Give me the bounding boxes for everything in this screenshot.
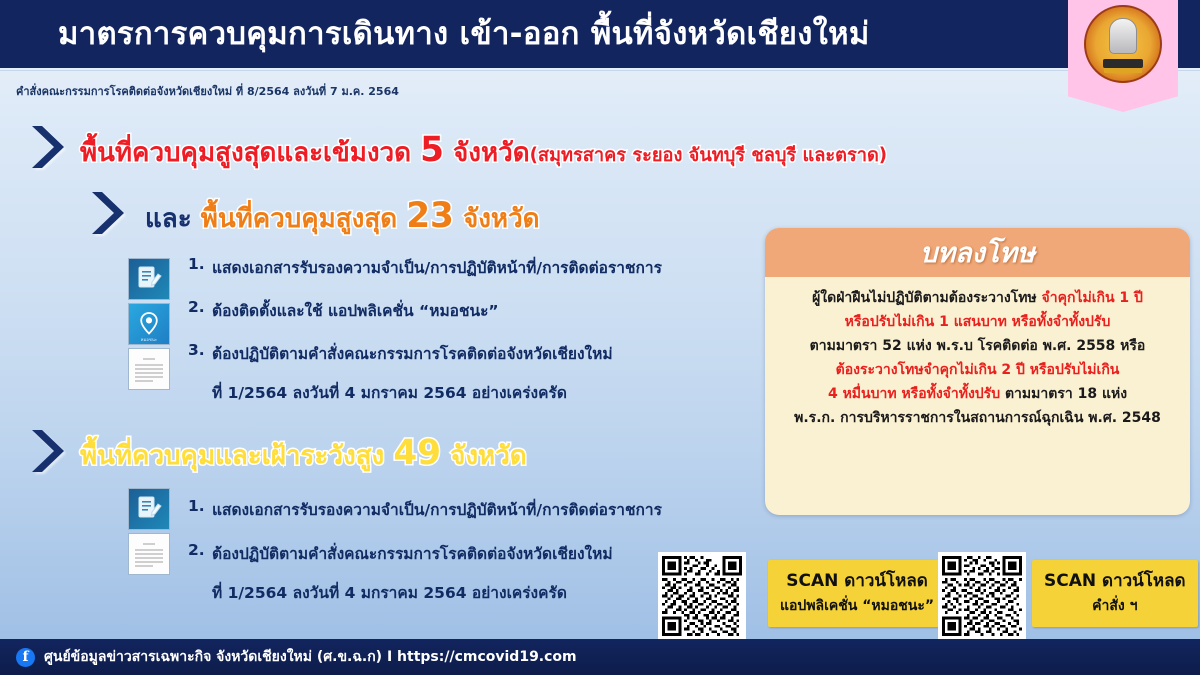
list-item-number: 2. [188, 298, 212, 316]
emblem-inner [1098, 16, 1148, 72]
zone-5-provinces: (สมุทรสาคร ระยอง จันทบุรี ชลบุรี และตราด… [530, 145, 887, 166]
list-item-number: 2. [188, 541, 212, 559]
requirement-icons-group-b [128, 488, 172, 578]
zone-49-count: 49 [393, 433, 441, 473]
footer-bar: f ศูนย์ข้อมูลข่าวสารเฉพาะกิจ จังหวัดเชีย… [0, 639, 1200, 675]
app-icon-label: หมอชนะ [129, 336, 169, 343]
zone-23-label: พื้นที่ควบคุมสูงสุด [201, 204, 397, 234]
list-item-text: ต้องติดตั้งและใช้ แอปพลิเคชั่น “หมอชนะ” [212, 298, 499, 323]
requirement-icons-group-a: หมอชนะ [128, 258, 172, 393]
zone-5-label: พื้นที่ควบคุมสูงสุดและเข้มงวด [80, 138, 411, 168]
requirements-list-b: 1. แสดงเอกสารรับรองความจำเป็น/การปฏิบัติ… [188, 497, 662, 605]
list-item: 3. ต้องปฏิบัติตามคำสั่งคณะกรรมการโรคติดต… [188, 341, 662, 366]
penalty-line: 4 หมื่นบาท หรือทั้งจำทั้งปรับ ตามมาตรา 1… [775, 382, 1180, 406]
zone-5-count: 5 [420, 130, 444, 170]
penalty-line: ตามมาตรา 52 แห่ง พ.ร.บ โรคติดต่อ พ.ศ. 25… [775, 334, 1180, 358]
header-divider [0, 70, 1200, 71]
zone-23-prefix: และ [145, 204, 192, 234]
list-item-continuation: ที่ 1/2564 ลงวันที่ 4 มกราคม 2564 อย่างเ… [212, 380, 662, 405]
footer-text: ศูนย์ข้อมูลข่าวสารเฉพาะกิจ จังหวัดเชียงใ… [44, 646, 577, 668]
list-item-text: ต้องปฏิบัติตามคำสั่งคณะกรรมการโรคติดต่อจ… [212, 341, 613, 366]
chevron-right-icon [88, 190, 126, 236]
list-item-number: 3. [188, 341, 212, 359]
official-order-document-icon [128, 533, 170, 575]
penalty-line: ต้องระวางโทษจำคุกไม่เกิน 2 ปี หรือปรับไม… [775, 358, 1180, 382]
penalty-panel-body: ผู้ใดฝ่าฝืนไม่ปฏิบัติตามต้องระวางโทษ จำค… [765, 277, 1190, 430]
penalty-title: บทลงโทษ [920, 231, 1035, 274]
penalty-text: พ.ร.ก. การบริหารราชการในสถานการณ์ฉุกเฉิน… [794, 410, 1161, 426]
chiang-mai-provincial-emblem [1084, 5, 1162, 83]
list-item: 1. แสดงเอกสารรับรองความจำเป็น/การปฏิบัติ… [188, 255, 662, 280]
list-item-text: แสดงเอกสารรับรองความจำเป็น/การปฏิบัติหน้… [212, 497, 662, 522]
zone-49-unit: จังหวัด [450, 441, 527, 471]
zone-23-count: 23 [406, 196, 454, 236]
scan-label-line2: แอปพลิเคชั่น “หมอชนะ” [780, 598, 934, 614]
location-pin-app-icon: หมอชนะ [128, 303, 170, 345]
scan-label-order: SCAN ดาวน์โหลด คำสั่ง ฯ [1032, 560, 1198, 627]
qr-code-order[interactable] [938, 552, 1026, 640]
penalty-text-highlight: ต้องระวางโทษจำคุกไม่เกิน 2 ปี หรือปรับไม… [836, 362, 1120, 378]
penalty-text: ตามมาตรา 18 แห่ง [1000, 386, 1127, 402]
list-item: 1. แสดงเอกสารรับรองความจำเป็น/การปฏิบัติ… [188, 497, 662, 522]
chevron-right-icon [28, 428, 66, 474]
zone-49-label: พื้นที่ควบคุมและเฝ้าระวังสูง [80, 441, 384, 471]
penalty-text-highlight: หรือปรับไม่เกิน 1 แสนบาท หรือทั้งจำทั้งป… [845, 314, 1111, 330]
list-item: 2. ต้องติดตั้งและใช้ แอปพลิเคชั่น “หมอชน… [188, 298, 662, 323]
zone-5-unit: จังหวัด [453, 138, 530, 168]
penalty-line: ผู้ใดฝ่าฝืนไม่ปฏิบัติตามต้องระวางโทษ จำค… [775, 286, 1180, 310]
penalty-panel-header: บทลงโทษ [765, 228, 1190, 277]
emblem-pedestal [1103, 59, 1143, 68]
penalty-line: หรือปรับไม่เกิน 1 แสนบาท หรือทั้งจำทั้งป… [775, 310, 1180, 334]
qr-code-morchana[interactable] [658, 552, 746, 640]
facebook-icon[interactable]: f [16, 648, 35, 667]
order-reference-subtitle: คำสั่งคณะกรรมการโรคติดต่อจังหวัดเชียงใหม… [16, 82, 399, 100]
penalty-text: ตามมาตรา 52 แห่ง พ.ร.บ โรคติดต่อ พ.ศ. 25… [810, 338, 1146, 354]
zone-49-headline: พื้นที่ควบคุมและเฝ้าระวังสูง 49 จังหวัด [80, 433, 527, 476]
list-item-continuation: ที่ 1/2564 ลงวันที่ 4 มกราคม 2564 อย่างเ… [212, 580, 662, 605]
infographic-poster: มาตรการควบคุมการเดินทาง เข้า-ออก พื้นที่… [0, 0, 1200, 675]
penalty-panel: บทลงโทษ ผู้ใดฝ่าฝืนไม่ปฏิบัติตามต้องระวา… [765, 228, 1190, 515]
page-title: มาตรการควบคุมการเดินทาง เข้า-ออก พื้นที่… [58, 10, 1048, 58]
penalty-text-highlight: จำคุกไม่เกิน 1 ปี [1042, 290, 1143, 306]
zone-23-headline: และ พื้นที่ควบคุมสูงสุด 23 จังหวัด [145, 196, 540, 239]
list-item: 2. ต้องปฏิบัติตามคำสั่งคณะกรรมการโรคติดต… [188, 541, 662, 566]
list-item-text: ต้องปฏิบัติตามคำสั่งคณะกรรมการโรคติดต่อจ… [212, 541, 613, 566]
scan-label-line1: SCAN ดาวน์โหลด [786, 571, 928, 591]
requirements-list-a: 1. แสดงเอกสารรับรองความจำเป็น/การปฏิบัติ… [188, 255, 662, 405]
list-item-text: แสดงเอกสารรับรองความจำเป็น/การปฏิบัติหน้… [212, 255, 662, 280]
zone-23-unit: จังหวัด [463, 204, 540, 234]
chevron-right-icon [28, 124, 66, 170]
penalty-text: ผู้ใดฝ่าฝืนไม่ปฏิบัติตามต้องระวางโทษ [812, 290, 1041, 306]
official-order-document-icon [128, 348, 170, 390]
list-item-number: 1. [188, 255, 212, 273]
penalty-line: พ.ร.ก. การบริหารราชการในสถานการณ์ฉุกเฉิน… [775, 406, 1180, 430]
scan-label-line2: คำสั่ง ฯ [1092, 598, 1137, 614]
document-pen-icon [128, 488, 170, 530]
scan-label-morchana: SCAN ดาวน์โหลด แอปพลิเคชั่น “หมอชนะ” [768, 560, 946, 627]
white-elephant-icon [1109, 18, 1137, 54]
document-pen-icon [128, 258, 170, 300]
list-item-number: 1. [188, 497, 212, 515]
scan-label-line1: SCAN ดาวน์โหลด [1044, 571, 1186, 591]
penalty-text-highlight: 4 หมื่นบาท หรือทั้งจำทั้งปรับ [828, 386, 1000, 402]
emblem-banner [1068, 0, 1178, 112]
zone-5-headline: พื้นที่ควบคุมสูงสุดและเข้มงวด 5 จังหวัด(… [80, 130, 887, 173]
